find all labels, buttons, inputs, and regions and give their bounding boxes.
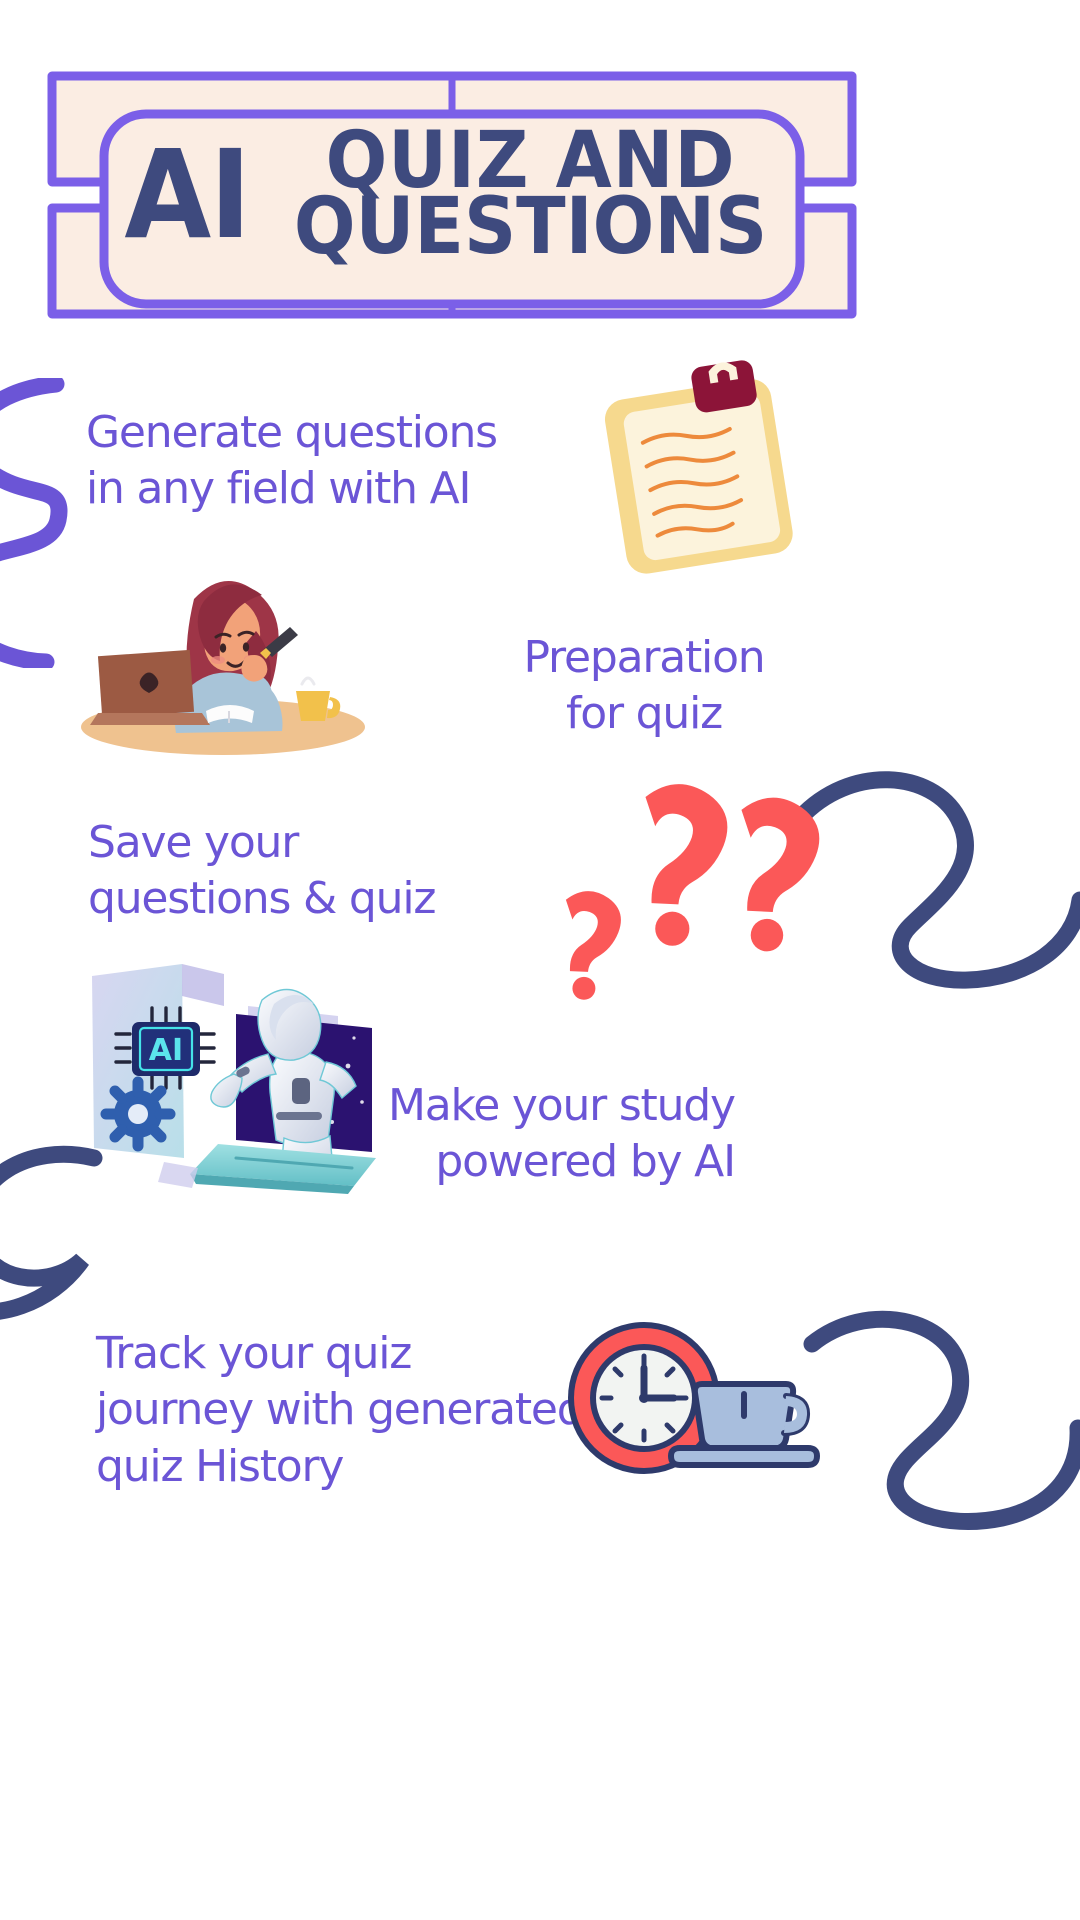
caption-line: Save your xyxy=(88,815,435,871)
feature-caption-track: Track your quiz journey with generated q… xyxy=(96,1326,584,1495)
title-line-2: QUESTIONS xyxy=(294,195,767,261)
page-title: QUIZ AND QUESTIONS xyxy=(294,129,767,260)
robot-laptop-icon: AI xyxy=(86,962,376,1202)
squiggle-decoration-right-mid xyxy=(792,760,1080,994)
poster-canvas: AI QUIZ AND QUESTIONS Generate questions… xyxy=(0,0,1080,1920)
title-banner: AI QUIZ AND QUESTIONS xyxy=(46,70,858,320)
caption-line: questions & quiz xyxy=(88,871,435,927)
clock-cup-icon xyxy=(562,1318,822,1478)
caption-line: journey with generated xyxy=(96,1382,584,1438)
feature-caption-generate: Generate questions in any field with AI xyxy=(86,405,497,518)
woman-studying-laptop-icon xyxy=(78,545,368,760)
caption-line: Preparation xyxy=(489,630,799,686)
feature-caption-save: Save your questions & quiz xyxy=(88,815,435,928)
caption-line: Make your study xyxy=(388,1078,735,1134)
squiggle-decoration-right-bottom xyxy=(784,1300,1080,1544)
title-badge-ai: AI xyxy=(124,143,249,248)
caption-line: for quiz xyxy=(489,686,799,742)
squiggle-decoration-left-top xyxy=(0,378,88,672)
caption-line: quiz History xyxy=(96,1439,584,1495)
feature-caption-study: Make your study powered by AI xyxy=(388,1078,735,1191)
caption-line: powered by AI xyxy=(388,1134,735,1190)
chip-label: AI xyxy=(149,1033,183,1068)
caption-line: in any field with AI xyxy=(86,461,497,517)
clipboard-icon xyxy=(598,362,804,580)
feature-caption-preparation: Preparation for quiz xyxy=(489,630,799,743)
caption-line: Generate questions xyxy=(86,405,497,461)
question-marks-icon xyxy=(530,775,830,990)
caption-line: Track your quiz xyxy=(96,1326,584,1382)
